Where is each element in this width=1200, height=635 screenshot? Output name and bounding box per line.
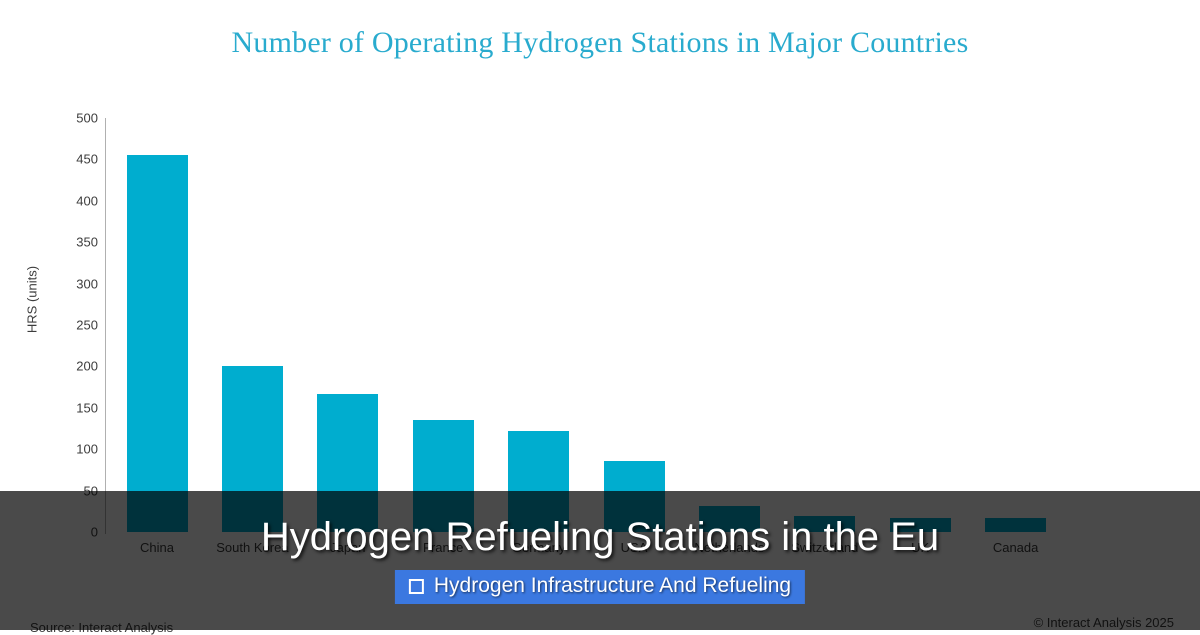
y-axis-tick-label: 300 (40, 276, 98, 291)
overlay-category-badge[interactable]: Hydrogen Infrastructure And Refueling (395, 570, 805, 604)
y-axis-tick-label: 250 (40, 318, 98, 333)
chart-title: Number of Operating Hydrogen Stations in… (0, 26, 1200, 60)
bar (222, 366, 283, 532)
missing-glyph-box-icon (409, 579, 424, 594)
y-axis-tick-label: 150 (40, 400, 98, 415)
overlay-badge-label: Hydrogen Infrastructure And Refueling (434, 574, 791, 598)
bar (317, 394, 378, 532)
y-axis-tick-label: 400 (40, 193, 98, 208)
plot-area (106, 118, 1180, 532)
y-axis-tick-label: 50 (40, 483, 98, 498)
y-axis-tick-label: 200 (40, 359, 98, 374)
y-axis-tick-label: 350 (40, 235, 98, 250)
bar (127, 155, 188, 532)
source-note: Source: Interact Analysis (30, 620, 173, 635)
y-axis-tick-labels: 050100150200250300350400450500 (36, 118, 98, 532)
chart-page: Number of Operating Hydrogen Stations in… (0, 0, 1200, 630)
overlay-heading: Hydrogen Refueling Stations in the Eu (0, 515, 1200, 560)
y-axis-title: HRS (units) (25, 240, 40, 360)
y-axis-tick-label: 450 (40, 152, 98, 167)
copyright-note: © Interact Analysis 2025 (1034, 615, 1174, 630)
y-axis-tick-label: 100 (40, 442, 98, 457)
y-axis-tick-label: 500 (40, 111, 98, 126)
